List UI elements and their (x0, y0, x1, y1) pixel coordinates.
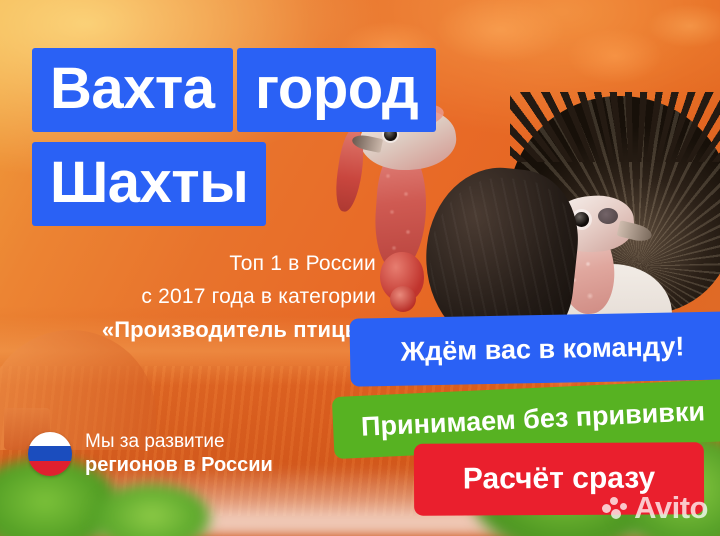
region-statement-block: Мы за развитие регионов в России (28, 430, 273, 478)
claim-block: Топ 1 в России с 2017 года в категории «… (0, 252, 376, 343)
headline-word-vahta: Вахта (32, 48, 233, 132)
headline-row-2: Шахты (32, 142, 436, 226)
region-line-2: регионов в России (85, 453, 273, 477)
headline-word-shahty: Шахты (32, 142, 266, 226)
region-statement-text: Мы за развитие регионов в России (85, 430, 273, 478)
russia-flag-icon (28, 432, 72, 476)
headline-block: Вахта город Шахты (32, 48, 436, 226)
avito-wordmark: Avito (634, 490, 708, 526)
turkey-cheek-patch (598, 208, 618, 224)
claim-line-since-year: с 2017 года в категории (0, 285, 376, 309)
region-line-1: Мы за развитие (85, 430, 273, 453)
turkey-wattle-lobe (390, 286, 416, 312)
headline-row-1: Вахта город (32, 48, 436, 132)
flag-stripe-red (28, 461, 72, 476)
cta-join-team-button[interactable]: Ждём вас в команду! (349, 311, 720, 386)
claim-line-top-rank: Топ 1 в России (0, 252, 376, 276)
claim-line-category: «Производитель птицы» (0, 317, 376, 343)
avito-watermark: Avito (602, 490, 708, 526)
avito-dots-icon (602, 497, 628, 519)
flag-stripe-white (28, 432, 72, 447)
flag-stripe-blue (28, 446, 72, 461)
vacancy-advertisement-banner: Вахта город Шахты Топ 1 в России с 2017 … (0, 0, 720, 536)
headline-word-gorod: город (237, 48, 436, 132)
